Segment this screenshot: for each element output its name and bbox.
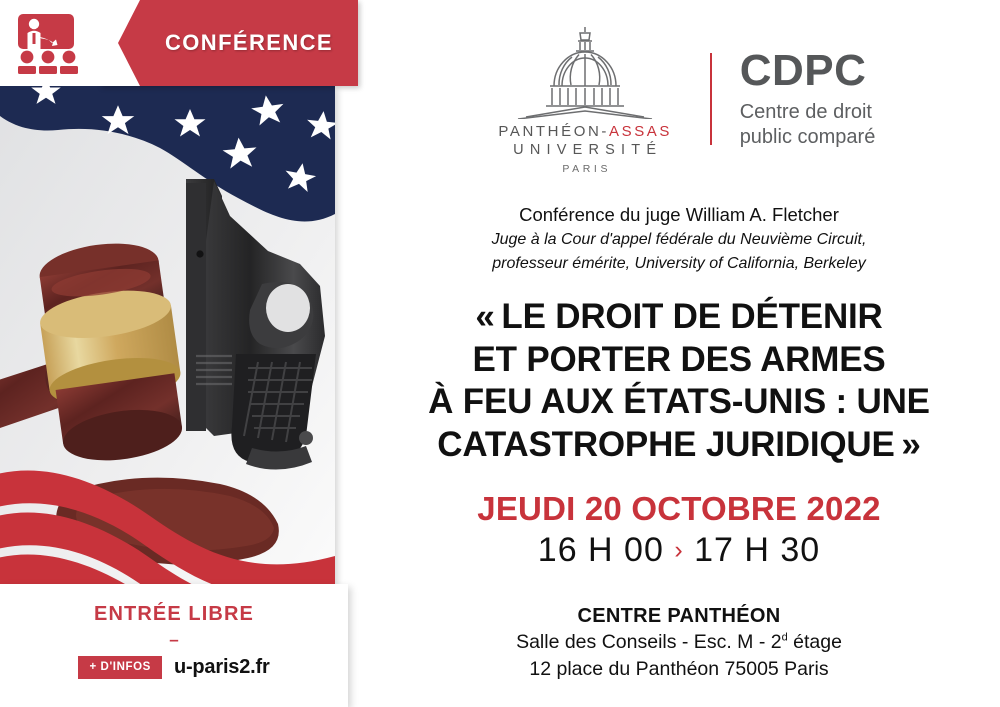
venue-room-suffix: étage — [788, 631, 842, 653]
title-line-4: CATASTROPHE JURIDIQUE » — [364, 424, 994, 467]
more-info-row: + D'INFOS u-paris2.fr — [0, 656, 348, 679]
speaker-role-line2: professeur émérite, University of Califo… — [368, 253, 990, 276]
presenter-board-icon — [12, 12, 88, 74]
speaker-block: Conférence du juge William A. Fletcher J… — [368, 203, 990, 275]
conference-banner: CONFÉRENCE — [0, 0, 358, 86]
conference-title: « LE DROIT DE DÉTENIR ET PORTER DES ARME… — [364, 296, 994, 467]
banner-icon-container — [0, 0, 110, 86]
venue-block: CENTRE PANTHÉON Salle des Conseils - Esc… — [364, 605, 994, 683]
free-entry-card: ENTRÉE LIBRE – + D'INFOS u-paris2.fr — [0, 584, 348, 707]
event-time-end: 17 H 30 — [694, 531, 820, 569]
title-line-1: « LE DROIT DE DÉTENIR — [364, 296, 994, 339]
pantheon-dome-icon — [510, 23, 660, 119]
title-line-2: ET PORTER DES ARMES — [364, 339, 994, 382]
banner-label: CONFÉRENCE — [140, 0, 358, 86]
university-city: PARIS — [483, 163, 688, 175]
more-info-button[interactable]: + D'INFOS — [78, 656, 162, 678]
website-url[interactable]: u-paris2.fr — [174, 656, 270, 679]
university-name-main: PANTHÉON- — [498, 123, 609, 140]
cdpc-logo: CDPC Centre de droit public comparé — [740, 49, 876, 149]
logo-block: PANTHÉON-ASSAS UNIVERSITÉ PARIS CDPC Cen… — [358, 24, 1000, 174]
logo-divider — [710, 53, 712, 145]
university-subtitle: UNIVERSITÉ — [483, 142, 688, 158]
cdpc-acronym: CDPC — [740, 49, 876, 93]
card-separator: – — [0, 630, 348, 650]
time-arrow-icon: › — [674, 536, 683, 564]
speaker-name: Conférence du juge William A. Fletcher — [368, 203, 990, 228]
free-entry-label: ENTRÉE LIBRE — [0, 603, 348, 626]
event-time: 16 H 00 › 17 H 30 — [364, 531, 994, 570]
venue-room-text: Salle des Conseils - Esc. M - 2 — [516, 631, 782, 653]
cdpc-subtitle-line1: Centre de droit — [740, 100, 876, 124]
event-date: JEUDI 20 OCTOBRE 2022 — [364, 490, 994, 528]
event-time-start: 16 H 00 — [538, 531, 664, 569]
left-column: CONFÉRENCE — [0, 0, 358, 707]
university-name-accent: ASSAS — [609, 123, 672, 140]
title-line-3: À FEU AUX ÉTATS-UNIS : UNE — [364, 381, 994, 424]
speaker-role-line1: Juge à la Cour d'appel fédérale du Neuvi… — [368, 229, 990, 252]
gavel-flag-photo — [0, 86, 335, 584]
venue-address: 12 place du Panthéon 75005 Paris — [364, 656, 994, 682]
venue-name: CENTRE PANTHÉON — [364, 605, 994, 628]
conference-poster: CONFÉRENCE — [0, 0, 1000, 707]
venue-room: Salle des Conseils - Esc. M - 2d étage — [364, 629, 994, 655]
right-column: PANTHÉON-ASSAS UNIVERSITÉ PARIS CDPC Cen… — [358, 0, 1000, 707]
university-name: PANTHÉON-ASSAS — [483, 123, 688, 140]
cdpc-subtitle-line2: public comparé — [740, 125, 876, 149]
cdpc-subtitle: Centre de droit public comparé — [740, 100, 876, 149]
photo-artwork — [0, 86, 335, 584]
pantheon-assas-logo: PANTHÉON-ASSAS UNIVERSITÉ PARIS — [483, 23, 688, 175]
